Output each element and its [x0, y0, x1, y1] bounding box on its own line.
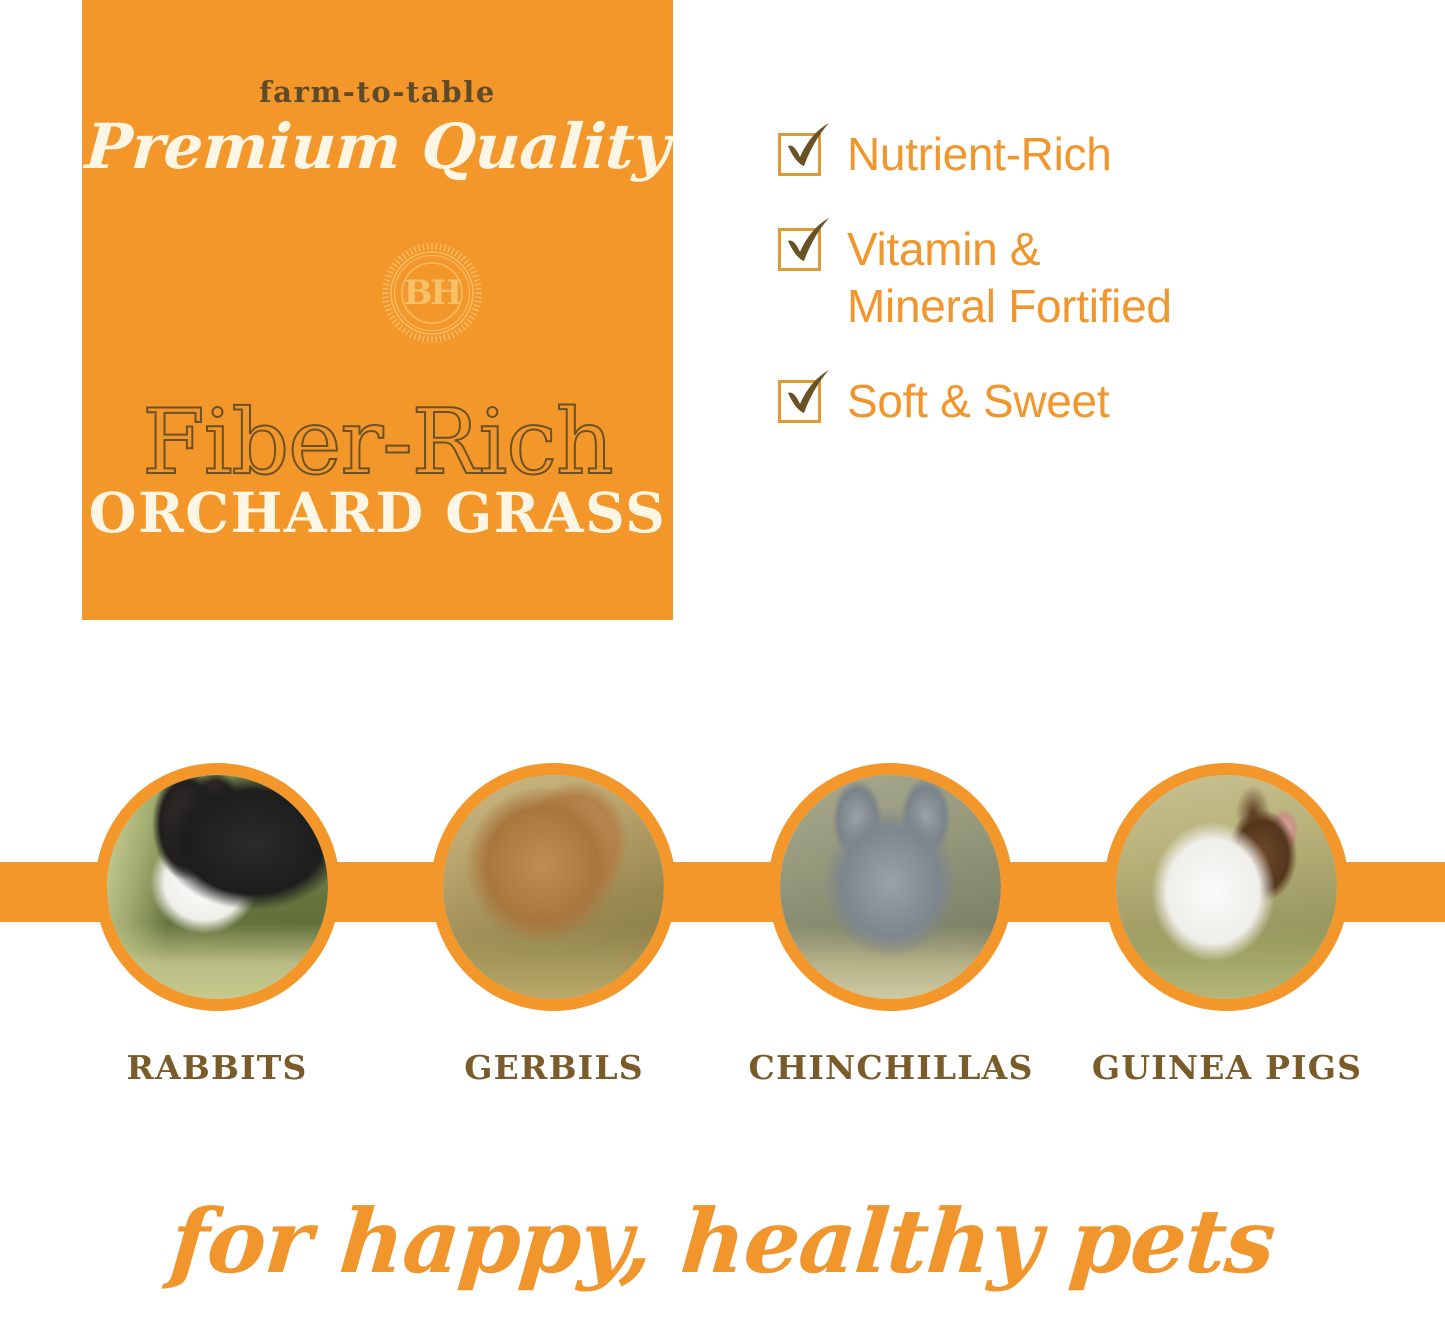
checkbox-checked-icon	[778, 133, 821, 176]
checkbox-checked-icon	[778, 228, 821, 271]
checklist-item-label: Vitamin & Mineral Fortified	[847, 221, 1172, 336]
animal-circle-guinea-pigs	[1104, 763, 1349, 1011]
product-headline-primary-text: Fiber-Rich	[142, 398, 612, 488]
suitable-pets-band: RABBITS GERBILS CHINCHILLAS GUINEA PIGS	[0, 755, 1445, 1025]
animal-label-chinchillas: CHINCHILLAS	[726, 1051, 1056, 1084]
guinea-pig-photo	[1116, 775, 1337, 999]
chinchilla-photo	[780, 775, 1001, 999]
script-headline: Premium Quality	[80, 113, 676, 181]
footer-tagline: for happy, healthy pets	[0, 1195, 1445, 1287]
benefits-checklist: Nutrient-Rich Vitamin & Mineral Fortifie…	[778, 126, 1378, 467]
product-headline-secondary: ORCHARD GRASS	[82, 485, 673, 540]
checklist-item: Soft & Sweet	[778, 373, 1378, 431]
animal-circle-chinchillas	[768, 763, 1013, 1011]
animal-circle-rabbits	[95, 763, 340, 1011]
hero-panel: farm-to-table Premium Quality BH Fiber-R…	[82, 0, 673, 620]
checklist-item: Nutrient-Rich	[778, 126, 1378, 184]
checklist-item: Vitamin & Mineral Fortified	[778, 221, 1378, 336]
gerbil-photo	[443, 775, 664, 999]
animal-label-guinea-pigs: GUINEA PIGS	[1062, 1051, 1392, 1084]
eyebrow-text: farm-to-table	[82, 78, 673, 107]
animal-label-gerbils: GERBILS	[389, 1051, 719, 1084]
checklist-item-label: Soft & Sweet	[847, 373, 1109, 431]
checklist-item-label: Nutrient-Rich	[847, 126, 1112, 184]
product-headline-primary: Fiber-Rich	[82, 398, 673, 488]
badge-monogram: BH	[377, 238, 487, 348]
rabbit-photo	[107, 775, 328, 999]
checkbox-checked-icon	[778, 380, 821, 423]
animal-label-rabbits: RABBITS	[52, 1051, 382, 1084]
animal-circle-gerbils	[431, 763, 676, 1011]
sunburst-seal-badge-icon: BH	[377, 238, 487, 348]
